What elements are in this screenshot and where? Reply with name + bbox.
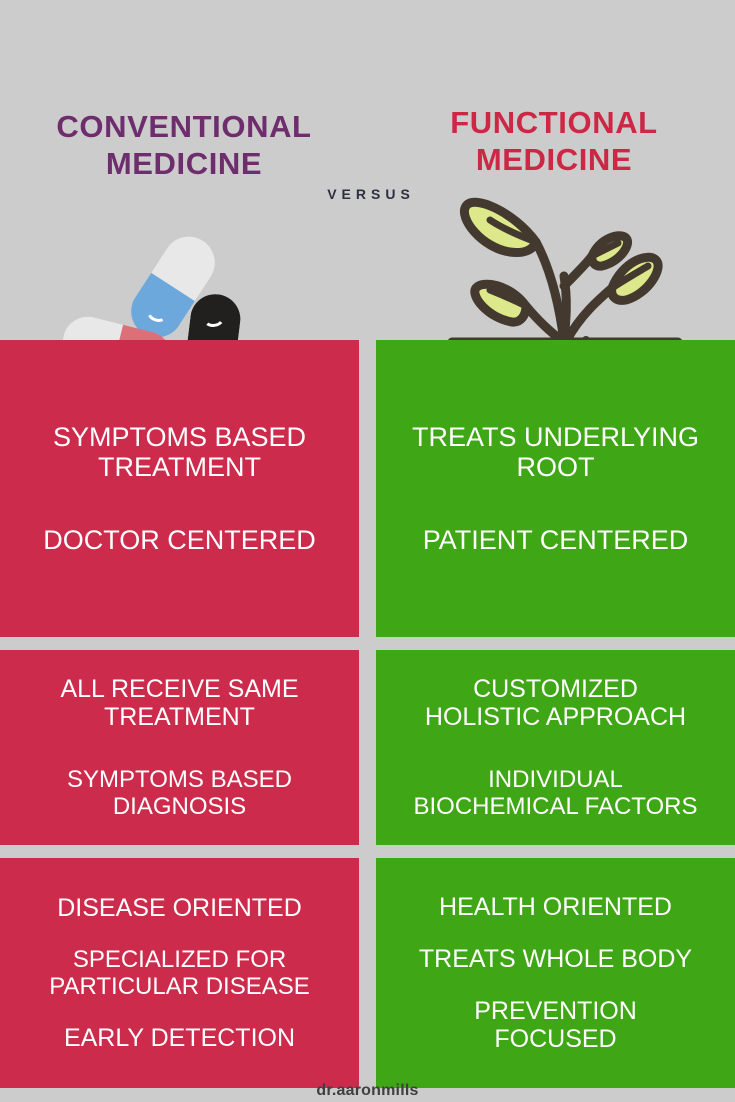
conventional-cell-3: DISEASE ORIENTED SPECIALIZED FOR PARTICU…	[0, 858, 359, 1088]
conventional-cell-1: SYMPTOMS BASED TREATMENT DOCTOR CENTERED	[0, 340, 359, 637]
functional-cell-3: HEALTH ORIENTED TREATS WHOLE BODY PREVEN…	[376, 858, 735, 1088]
comparison-grid: SYMPTOMS BASED TREATMENT DOCTOR CENTERED…	[0, 340, 735, 1101]
cell-text: HEALTH ORIENTED	[390, 893, 721, 921]
functional-cell-2: CUSTOMIZED HOLISTIC APPROACH INDIVIDUAL …	[376, 650, 735, 845]
page-title-functional: FUNCTIONAL MEDICINE	[380, 104, 728, 178]
header-zone: CONVENTIONAL MEDICINE FUNCTIONAL MEDICIN…	[0, 0, 735, 340]
cell-text: ALL RECEIVE SAME TREATMENT	[14, 675, 345, 732]
footer-credit: dr.aaronmills	[0, 1082, 735, 1100]
comparison-row: DISEASE ORIENTED SPECIALIZED FOR PARTICU…	[0, 858, 735, 1088]
cell-text: INDIVIDUAL BIOCHEMICAL FACTORS	[390, 766, 721, 820]
cell-text: CUSTOMIZED HOLISTIC APPROACH	[390, 675, 721, 732]
cell-text: SYMPTOMS BASED TREATMENT	[14, 422, 345, 483]
cell-text: TREATS WHOLE BODY	[390, 945, 721, 973]
cell-text: EARLY DETECTION	[14, 1024, 345, 1052]
cell-text: SYMPTOMS BASED DIAGNOSIS	[14, 766, 345, 820]
versus-label: VERSUS	[276, 186, 466, 202]
functional-cell-1: TREATS UNDERLYING ROOT PATIENT CENTERED	[376, 340, 735, 637]
cell-text: PATIENT CENTERED	[390, 525, 721, 556]
cell-text: TREATS UNDERLYING ROOT	[390, 422, 721, 483]
comparison-row: SYMPTOMS BASED TREATMENT DOCTOR CENTERED…	[0, 340, 735, 637]
cell-text: SPECIALIZED FOR PARTICULAR DISEASE	[14, 946, 345, 1000]
conventional-cell-2: ALL RECEIVE SAME TREATMENT SYMPTOMS BASE…	[0, 650, 359, 845]
cell-text: DISEASE ORIENTED	[14, 894, 345, 922]
infographic-poster: CONVENTIONAL MEDICINE FUNCTIONAL MEDICIN…	[0, 0, 735, 1102]
comparison-row: ALL RECEIVE SAME TREATMENT SYMPTOMS BASE…	[0, 650, 735, 845]
page-title-conventional: CONVENTIONAL MEDICINE	[8, 108, 360, 182]
cell-text: DOCTOR CENTERED	[14, 525, 345, 556]
cell-text: PREVENTION FOCUSED	[390, 997, 721, 1054]
